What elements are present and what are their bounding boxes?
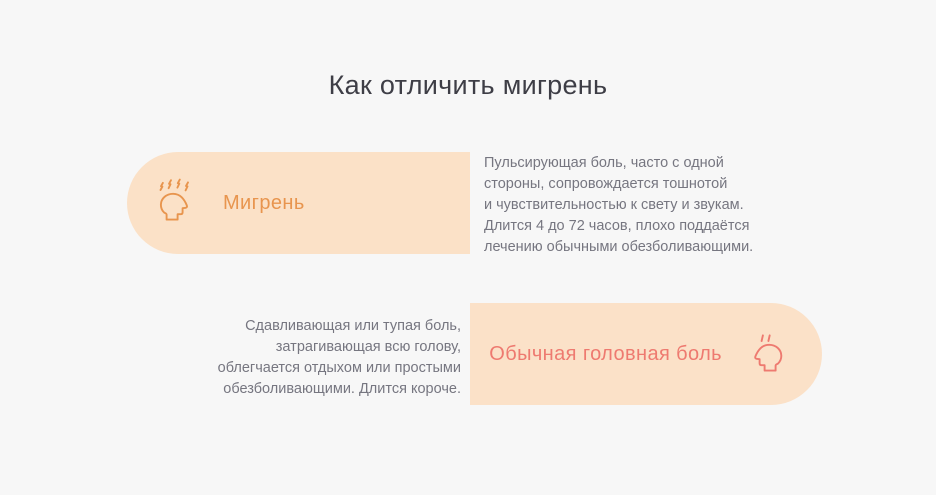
row-migraine: Мигрень Пульсирующая боль, часто с одной… bbox=[0, 152, 936, 254]
card-label-migraine: Мигрень bbox=[223, 192, 305, 215]
head-with-ticks-icon bbox=[740, 328, 792, 380]
card-label-tension: Обычная головная боль bbox=[489, 343, 722, 366]
description-line: стороны, сопровождается тошнотой bbox=[484, 174, 829, 195]
card-migraine[interactable]: Мигрень bbox=[127, 152, 470, 254]
description-line: обезболивающими. Длится короче. bbox=[120, 379, 461, 400]
page-title: Как отличить мигрень bbox=[0, 70, 936, 101]
description-migraine: Пульсирующая боль, часто с одной стороны… bbox=[484, 153, 829, 258]
slide-root: Как отличить мигрень Мигрень Пульсирующа… bbox=[0, 0, 936, 495]
description-line: затрагивающая всю голову, bbox=[120, 337, 461, 358]
description-line: лечению обычными обезболивающими. bbox=[484, 237, 829, 258]
head-with-lightning-bolts-icon bbox=[151, 177, 203, 229]
description-tension: Сдавливающая или тупая боль, затрагивающ… bbox=[120, 316, 461, 400]
description-line: Сдавливающая или тупая боль, bbox=[120, 316, 461, 337]
row-tension: Сдавливающая или тупая боль, затрагивающ… bbox=[0, 303, 936, 405]
card-tension[interactable]: Обычная головная боль bbox=[470, 303, 822, 405]
description-line: Длится 4 до 72 часов, плохо поддаётся bbox=[484, 216, 829, 237]
description-line: Пульсирующая боль, часто с одной bbox=[484, 153, 829, 174]
description-line: облегчается отдыхом или простыми bbox=[120, 358, 461, 379]
description-line: и чувствительностью к свету и звукам. bbox=[484, 195, 829, 216]
